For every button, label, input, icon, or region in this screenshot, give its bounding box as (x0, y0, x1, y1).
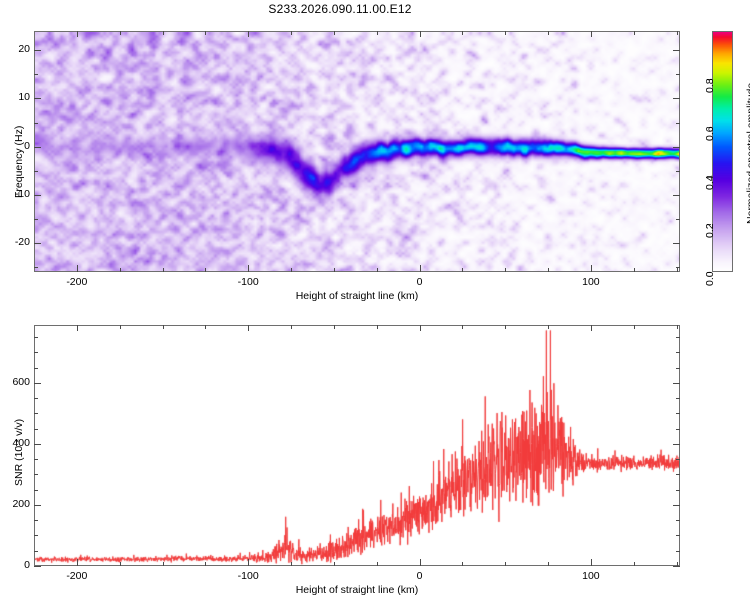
y-tick-minor-right (676, 520, 680, 521)
x-tick-minor-top (120, 31, 121, 35)
y-tick-minor-right (676, 123, 680, 124)
y-tick-label: 0 (0, 559, 30, 571)
y-tick-major-right (673, 566, 680, 567)
y-tick-minor (34, 551, 38, 552)
y-tick-major (34, 383, 41, 384)
x-tick-label: 100 (561, 570, 621, 582)
y-tick-minor (34, 74, 38, 75)
y-tick-major (34, 147, 41, 148)
y-tick-label: 200 (0, 498, 30, 510)
y-tick-major-right (673, 444, 680, 445)
y-tick-minor-right (676, 219, 680, 220)
y-tick-major-right (673, 147, 680, 148)
x-tick-major-top (77, 31, 78, 37)
x-tick-minor-top (334, 325, 335, 329)
x-tick-major-top (248, 31, 249, 37)
x-tick-minor-top (548, 31, 549, 35)
x-tick-minor (291, 562, 292, 566)
x-tick-minor (505, 562, 506, 566)
y-tick-label: 600 (0, 376, 30, 388)
x-tick-minor-top (205, 325, 206, 329)
y-tick-major (34, 243, 41, 244)
y-tick-label: -20 (0, 236, 30, 248)
x-tick-minor-top (205, 31, 206, 35)
x-tick-major (591, 265, 592, 272)
x-tick-minor (163, 268, 164, 272)
x-tick-minor (505, 268, 506, 272)
y-tick-major-right (673, 98, 680, 99)
x-tick-major (77, 265, 78, 272)
colorbar-tick-label: 0.4 (704, 175, 716, 190)
spectrogram-x-axis-label: Height of straight line (km) (34, 290, 680, 302)
snr-plot-area (34, 325, 680, 566)
colorbar-label: Normalized spectral amplitude (745, 82, 750, 223)
x-tick-minor-top (505, 325, 506, 329)
y-tick-minor (34, 368, 38, 369)
spectrogram-canvas (35, 32, 680, 272)
y-tick-major-right (673, 243, 680, 244)
y-tick-major-right (673, 505, 680, 506)
x-tick-minor (634, 268, 635, 272)
x-tick-minor-top (120, 325, 121, 329)
y-tick-minor (34, 474, 38, 475)
x-tick-label: -200 (47, 570, 107, 582)
x-tick-minor (634, 562, 635, 566)
x-tick-major-top (77, 325, 78, 331)
y-tick-major (34, 195, 41, 196)
x-tick-minor (462, 268, 463, 272)
x-tick-minor (548, 562, 549, 566)
y-tick-minor (34, 337, 38, 338)
y-tick-major-right (673, 383, 680, 384)
x-tick-label: 0 (390, 276, 450, 288)
y-tick-minor-right (676, 535, 680, 536)
x-tick-label: -200 (47, 276, 107, 288)
x-tick-minor (377, 562, 378, 566)
x-tick-major-top (591, 325, 592, 331)
y-tick-minor-right (676, 352, 680, 353)
y-tick-label: 20 (0, 43, 30, 55)
x-tick-label: 0 (390, 570, 450, 582)
colorbar-tick-label: 0.6 (704, 127, 716, 142)
y-tick-minor-right (676, 267, 680, 268)
y-tick-minor-right (676, 459, 680, 460)
x-tick-minor (334, 268, 335, 272)
x-tick-minor-top (291, 325, 292, 329)
y-tick-minor (34, 413, 38, 414)
y-tick-major (34, 505, 41, 506)
x-tick-major (248, 265, 249, 272)
y-tick-minor (34, 352, 38, 353)
spectrogram-y-axis-label: Frequency (Hz) (13, 125, 25, 197)
y-tick-major (34, 566, 41, 567)
x-tick-minor (677, 268, 678, 272)
x-tick-minor-top (505, 31, 506, 35)
y-tick-minor-right (676, 74, 680, 75)
x-tick-minor-top (462, 325, 463, 329)
spectrogram-plot-area (34, 31, 680, 272)
x-tick-minor-top (291, 31, 292, 35)
y-tick-minor-right (676, 429, 680, 430)
y-tick-major-right (673, 50, 680, 51)
x-tick-major (420, 265, 421, 272)
x-tick-minor (120, 268, 121, 272)
x-tick-minor (462, 562, 463, 566)
x-tick-major (248, 559, 249, 566)
y-tick-minor (34, 490, 38, 491)
y-tick-minor-right (676, 337, 680, 338)
x-tick-minor-top (377, 31, 378, 35)
y-tick-major-right (673, 195, 680, 196)
y-tick-minor (34, 398, 38, 399)
y-tick-minor-right (676, 398, 680, 399)
x-tick-major-top (420, 31, 421, 37)
x-tick-minor (377, 268, 378, 272)
y-tick-minor (34, 429, 38, 430)
figure-title: S233.2026.090.11.00.E12 (0, 2, 680, 16)
x-tick-minor-top (548, 325, 549, 329)
x-tick-minor-top (163, 31, 164, 35)
x-tick-minor (120, 562, 121, 566)
x-tick-major-top (591, 31, 592, 37)
colorbar-tick-label: 0.8 (704, 79, 716, 94)
x-tick-minor-top (334, 31, 335, 35)
colorbar-tick-label: 0.0 (704, 271, 716, 286)
y-tick-minor-right (676, 413, 680, 414)
x-tick-major-top (420, 325, 421, 331)
y-tick-minor (34, 171, 38, 172)
x-tick-label: 100 (561, 276, 621, 288)
x-tick-minor (334, 562, 335, 566)
y-tick-minor-right (676, 490, 680, 491)
snr-canvas (35, 326, 680, 566)
snr-x-axis-label: Height of straight line (km) (34, 584, 680, 596)
y-tick-major (34, 444, 41, 445)
snr-y-axis-label: SNR (10 * v/v) (13, 418, 25, 485)
x-tick-major-top (248, 325, 249, 331)
y-tick-major (34, 50, 41, 51)
x-tick-minor-top (677, 325, 678, 329)
x-tick-label: -100 (218, 570, 278, 582)
x-tick-minor-top (634, 31, 635, 35)
y-tick-minor-right (676, 551, 680, 552)
y-tick-major (34, 98, 41, 99)
x-tick-minor-top (377, 325, 378, 329)
y-tick-minor (34, 520, 38, 521)
figure-root: S233.2026.090.11.00.E12 -200-1000100-20-… (0, 0, 750, 600)
y-tick-minor (34, 535, 38, 536)
y-tick-minor (34, 123, 38, 124)
y-tick-minor-right (676, 474, 680, 475)
y-tick-minor-right (676, 171, 680, 172)
y-tick-minor (34, 267, 38, 268)
x-tick-minor-top (462, 31, 463, 35)
x-tick-major (420, 559, 421, 566)
x-tick-minor (163, 562, 164, 566)
x-tick-major (591, 559, 592, 566)
x-tick-major (77, 559, 78, 566)
y-tick-label: 10 (0, 91, 30, 103)
x-tick-minor (205, 268, 206, 272)
x-tick-minor-top (163, 325, 164, 329)
y-tick-minor (34, 219, 38, 220)
colorbar-tick-label: 0.2 (704, 223, 716, 238)
x-tick-minor (548, 268, 549, 272)
y-tick-minor (34, 459, 38, 460)
x-tick-minor-top (634, 325, 635, 329)
x-tick-label: -100 (218, 276, 278, 288)
x-tick-minor (291, 268, 292, 272)
x-tick-minor-top (677, 31, 678, 35)
y-tick-minor-right (676, 368, 680, 369)
x-tick-minor (205, 562, 206, 566)
